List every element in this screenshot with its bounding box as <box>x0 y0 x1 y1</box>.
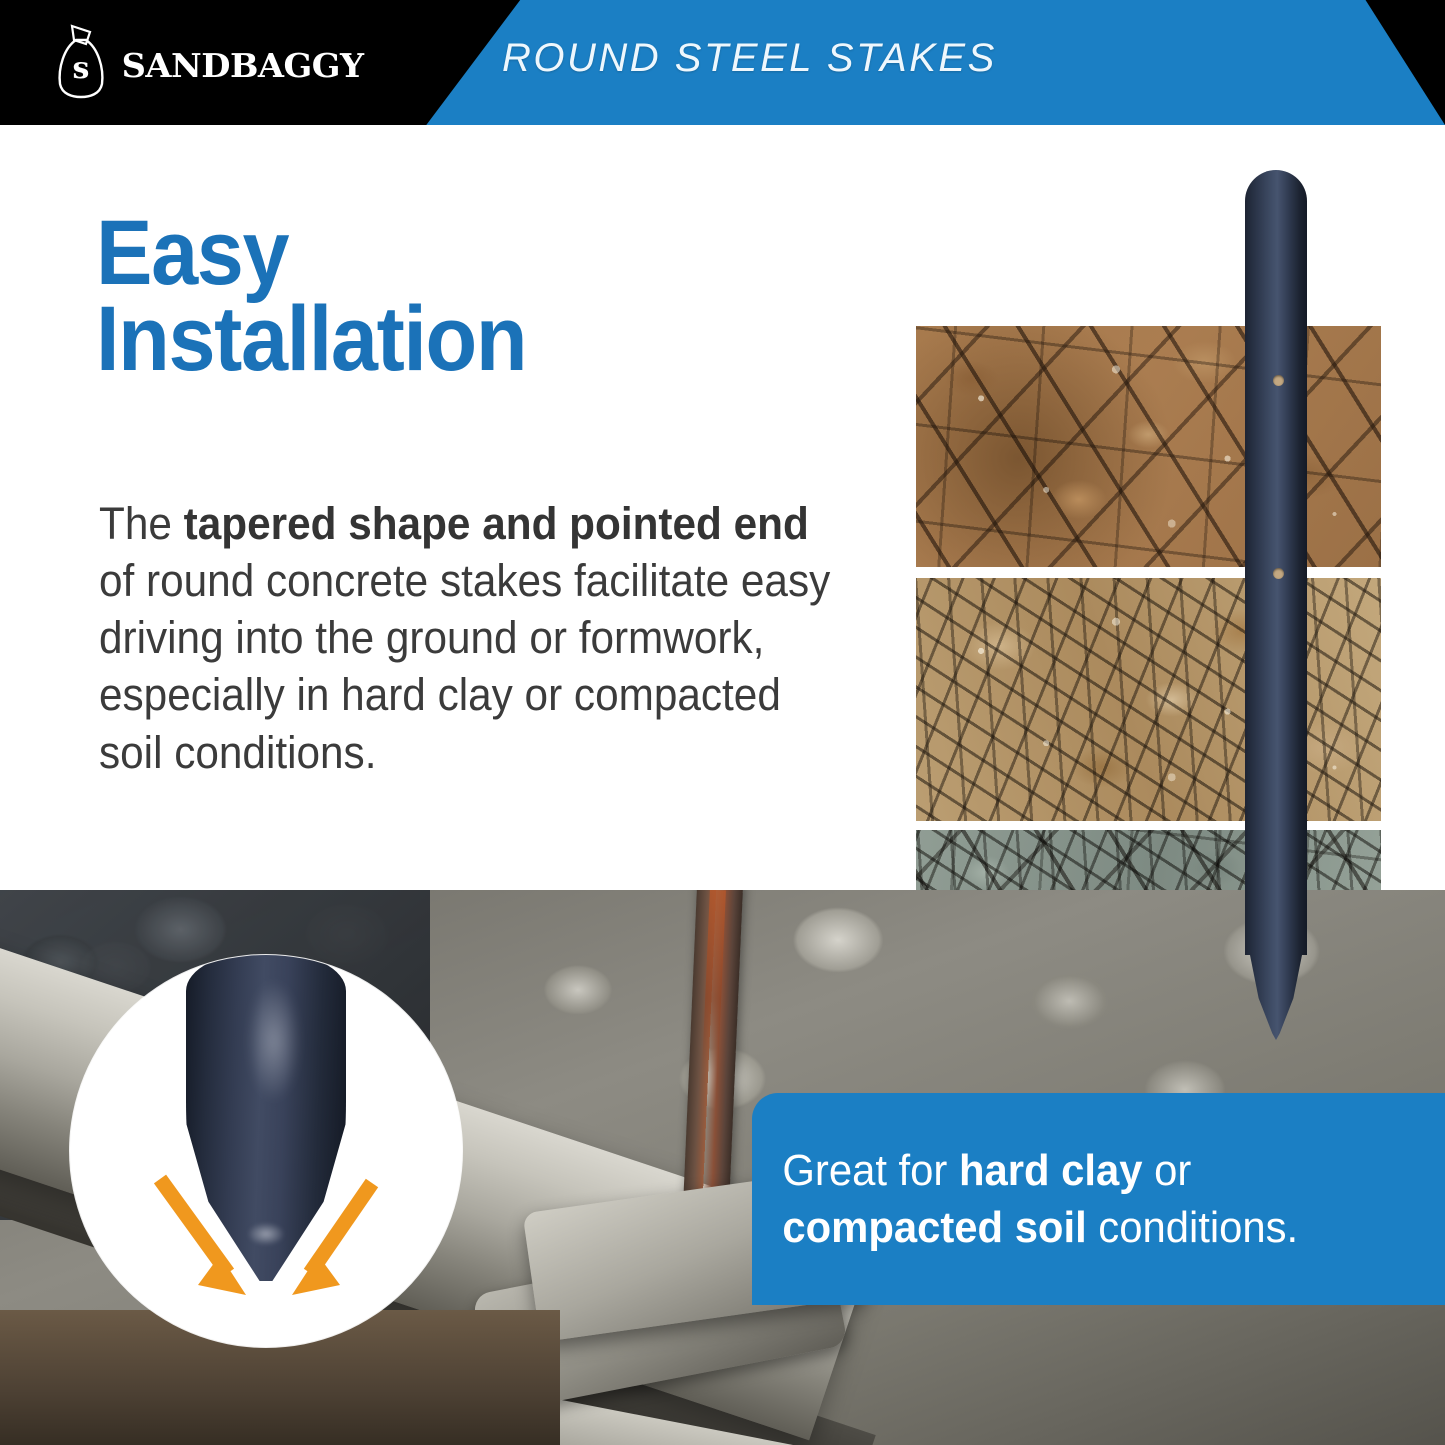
header-title: ROUND STEEL STAKES <box>502 36 997 81</box>
soil-panel-cracked-brown-clay <box>916 326 1381 567</box>
stake-pointed-tip <box>1245 930 1307 1040</box>
callout-part-1: Great for <box>782 1146 959 1195</box>
body-paragraph: The tapered shape and pointed end of rou… <box>99 495 842 781</box>
callout-text: Great for hard clay or compacted soil co… <box>752 1142 1410 1256</box>
callout-bold-1: hard clay <box>959 1146 1143 1195</box>
upper-content-area: Easy Installation The tapered shape and … <box>0 125 1445 890</box>
svg-text:s: s <box>73 51 90 86</box>
taper-arrows <box>70 955 462 1347</box>
body-part-1: The <box>99 498 184 549</box>
stake-hole <box>1273 568 1284 579</box>
brand-name: SANDBAGGY <box>122 38 364 85</box>
page-title: Easy Installation <box>96 210 526 383</box>
body-part-2: of round concrete stakes facilitate easy… <box>99 555 830 777</box>
stake-tip-closeup <box>70 955 462 1347</box>
infographic-page: s SANDBAGGY ROUND STEEL STAKES Easy Inst… <box>0 0 1445 1445</box>
callout-bold-2: compacted soil <box>782 1203 1086 1252</box>
callout-part-2: or <box>1143 1146 1192 1195</box>
stake-shaft <box>1245 170 1307 955</box>
soil-panel-compacted-tan <box>916 578 1381 821</box>
grit-overlay <box>916 578 1381 821</box>
callout-box: Great for hard clay or compacted soil co… <box>752 1093 1445 1305</box>
sandbag-icon: s <box>52 22 110 100</box>
soil-panel-group <box>916 200 1381 970</box>
headline-line-2: Installation <box>96 296 526 382</box>
round-steel-stake <box>1245 170 1307 1030</box>
arrow-head-right <box>292 1255 340 1295</box>
header-bar: s SANDBAGGY ROUND STEEL STAKES <box>0 0 1445 125</box>
callout-part-3: conditions. <box>1087 1203 1298 1252</box>
grit-overlay <box>916 326 1381 567</box>
brand-logo: s SANDBAGGY <box>52 22 361 100</box>
body-bold-1: tapered shape and pointed end <box>184 498 809 549</box>
stake-hole <box>1273 375 1284 386</box>
arrow-head-left <box>198 1255 246 1295</box>
